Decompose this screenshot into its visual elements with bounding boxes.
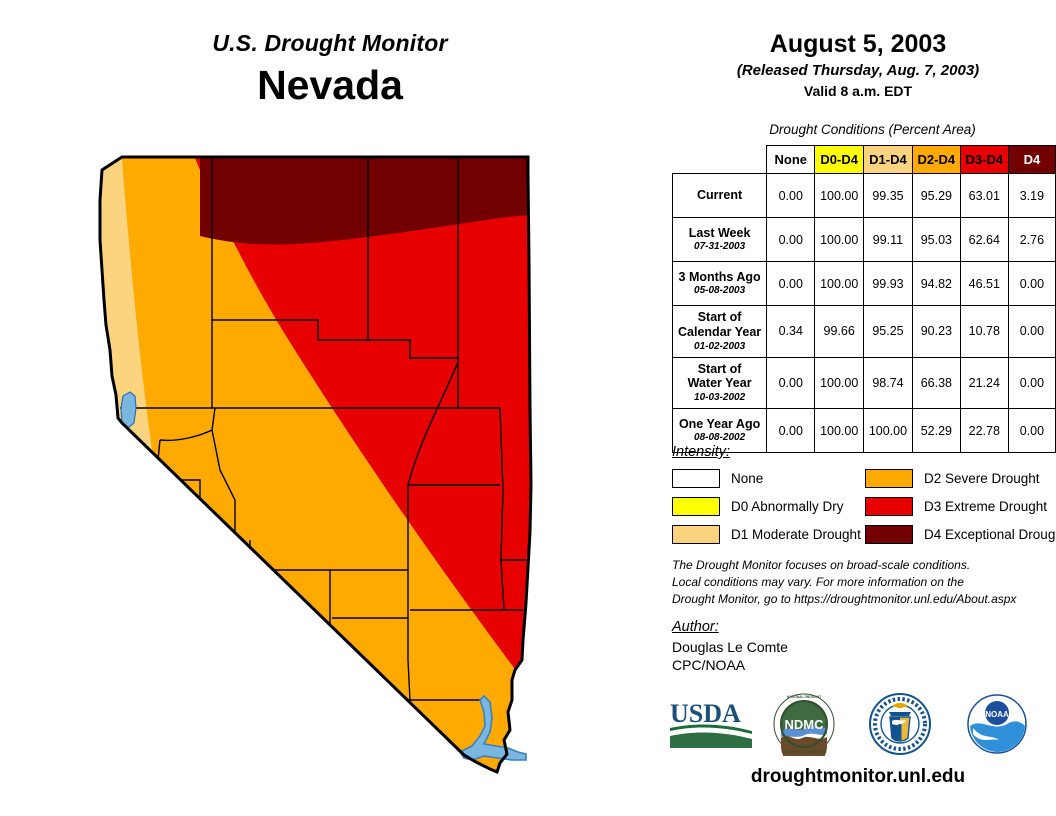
legend-label: D3 Extreme Drought <box>924 499 1047 514</box>
page-title-state: Nevada <box>0 62 660 109</box>
table-row: Current0.00100.0099.3595.2963.013.19 <box>673 174 1056 218</box>
table-cell: 0.00 <box>1008 306 1055 358</box>
drought-monitor-page: U.S. Drought Monitor Nevada <box>0 0 1056 816</box>
table-body: Current0.00100.0099.3595.2963.013.19Last… <box>673 174 1056 453</box>
nevada-drought-map <box>60 140 640 800</box>
table-cell: 0.00 <box>1008 262 1055 306</box>
table-cell: 21.24 <box>960 357 1008 409</box>
svg-text:NATIONAL DROUGHT: NATIONAL DROUGHT <box>787 695 821 699</box>
table-cell: 0.00 <box>767 174 815 218</box>
site-url[interactable]: droughtmonitor.unl.edu <box>660 766 1056 788</box>
svg-text:NOAA: NOAA <box>985 710 1009 719</box>
author-name: Douglas Le Comte <box>672 639 788 655</box>
legend-item: D3 Extreme Drought <box>865 494 1056 518</box>
table-row: Start ofWater Year10-03-20020.00100.0098… <box>673 357 1056 409</box>
table-cell: 46.51 <box>960 262 1008 306</box>
table-col-header-d1-d4: D1-D4 <box>864 146 913 174</box>
table-cell: 99.93 <box>864 262 913 306</box>
usda-logo: USDA <box>668 698 754 755</box>
table-cell: 0.00 <box>767 409 815 453</box>
table-header: NoneD0-D4D1-D4D2-D4D3-D4D4 <box>673 146 1056 174</box>
table-col-header-d0-d4: D0-D4 <box>815 146 864 174</box>
table-cell: 100.00 <box>815 218 864 262</box>
table-row-label: Current <box>673 174 767 218</box>
legend-title: Intensity: <box>672 444 730 460</box>
legend-item: D2 Severe Drought <box>865 466 1056 490</box>
table-cell: 0.00 <box>767 262 815 306</box>
table-cell: 98.74 <box>864 357 913 409</box>
table-cell: 94.82 <box>912 262 960 306</box>
table-row-label: Start ofWater Year10-03-2002 <box>673 357 767 409</box>
table-cell: 99.11 <box>864 218 913 262</box>
legend-column-left: NoneD0 Abnormally DryD1 Moderate Drought <box>672 466 861 550</box>
legend-swatch <box>672 469 720 488</box>
table-row-label: Last Week07-31-2003 <box>673 218 767 262</box>
row-label-title: Last Week <box>675 226 764 241</box>
ndmc-logo: NDMC NATIONAL DROUGHT UNIVERSITY OF NEBR… <box>772 692 836 761</box>
row-label-date: 07-31-2003 <box>675 241 764 253</box>
row-label-title: One Year Ago <box>675 417 764 432</box>
table-col-header-d4: D4 <box>1008 146 1055 174</box>
row-label-date: 01-02-2003 <box>675 341 764 353</box>
table-cell: 0.00 <box>1008 357 1055 409</box>
svg-text:UNIVERSITY OF NEBRASKA: UNIVERSITY OF NEBRASKA <box>782 750 827 754</box>
table-cell: 95.25 <box>864 306 913 358</box>
table-col-header-none: None <box>767 146 815 174</box>
table-cell: 2.76 <box>1008 218 1055 262</box>
svg-text:USDA: USDA <box>670 699 741 728</box>
legend-swatch <box>865 525 913 544</box>
table-cell: 0.00 <box>767 218 815 262</box>
legend-column-right: D2 Severe DroughtD3 Extreme DroughtD4 Ex… <box>865 466 1056 550</box>
table-cell: 100.00 <box>815 409 864 453</box>
report-valid: Valid 8 a.m. EDT <box>660 83 1056 99</box>
row-label-title: Current <box>675 188 764 203</box>
table-row: Last Week07-31-20030.00100.0099.1195.036… <box>673 218 1056 262</box>
row-label-date: 05-08-2003 <box>675 285 764 297</box>
legend-swatch <box>672 525 720 544</box>
legend-item: D0 Abnormally Dry <box>672 494 861 518</box>
table-cell: 10.78 <box>960 306 1008 358</box>
legend-item: None <box>672 466 861 490</box>
legend-label: D4 Exceptional Drought <box>924 527 1056 542</box>
table-col-header-d2-d4: D2-D4 <box>912 146 960 174</box>
author-organization: CPC/NOAA <box>672 657 745 673</box>
table-cell: 100.00 <box>864 409 913 453</box>
author-heading: Author: <box>672 619 719 635</box>
table-cell: 3.19 <box>1008 174 1055 218</box>
legend-swatch <box>672 497 720 516</box>
table-cell: 100.00 <box>815 174 864 218</box>
svg-text:NDMC: NDMC <box>785 717 825 732</box>
map-drought-bands <box>60 140 640 800</box>
row-label-title: Start ofCalendar Year <box>675 310 764 340</box>
table-row: Start ofCalendar Year01-02-20030.3499.66… <box>673 306 1056 358</box>
table-cell: 100.00 <box>815 262 864 306</box>
table-row-label: 3 Months Ago05-08-2003 <box>673 262 767 306</box>
row-label-title: Start ofWater Year <box>675 362 764 392</box>
table-cell: 99.35 <box>864 174 913 218</box>
legend-swatch <box>865 469 913 488</box>
table-col-header-d3-d4: D3-D4 <box>960 146 1008 174</box>
usdc-seal <box>868 692 932 761</box>
table-cell: 90.23 <box>912 306 960 358</box>
table-cell: 99.66 <box>815 306 864 358</box>
page-title-program: U.S. Drought Monitor <box>0 30 660 57</box>
table-cell: 63.01 <box>960 174 1008 218</box>
table-cell: 100.00 <box>815 357 864 409</box>
table-cell: 95.03 <box>912 218 960 262</box>
drought-conditions-table: NoneD0-D4D1-D4D2-D4D3-D4D4 Current0.0010… <box>672 145 1056 453</box>
table-header-row: NoneD0-D4D1-D4D2-D4D3-D4D4 <box>673 146 1056 174</box>
table-cell: 22.78 <box>960 409 1008 453</box>
legend-label: D0 Abnormally Dry <box>731 499 844 514</box>
disclaimer-text: The Drought Monitor focuses on broad-sca… <box>672 557 1052 608</box>
legend-swatch <box>865 497 913 516</box>
row-label-date: 10-03-2002 <box>675 392 764 404</box>
table-cell: 0.00 <box>1008 409 1055 453</box>
row-label-title: 3 Months Ago <box>675 270 764 285</box>
row-label-date: 08-08-2002 <box>675 432 764 444</box>
band-d4-east <box>556 595 598 692</box>
legend-item: D4 Exceptional Drought <box>865 522 1056 546</box>
table-row-label: Start ofCalendar Year01-02-2003 <box>673 306 767 358</box>
legend-label: D1 Moderate Drought <box>731 527 861 542</box>
legend-label: D2 Severe Drought <box>924 471 1040 486</box>
logo-bar: USDA NDMC NATIONAL DROUGHT UNIVERSITY OF… <box>660 692 1056 756</box>
table-cell: 52.29 <box>912 409 960 453</box>
header-corner-blank <box>673 146 767 174</box>
map-svg <box>60 140 640 800</box>
report-date: August 5, 2003 <box>660 30 1056 59</box>
table-row: 3 Months Ago05-08-20030.00100.0099.9394.… <box>673 262 1056 306</box>
legend-label: None <box>731 471 763 486</box>
report-released: (Released Thursday, Aug. 7, 2003) <box>660 62 1056 79</box>
table-cell: 0.00 <box>767 357 815 409</box>
table-cell: 95.29 <box>912 174 960 218</box>
table-cell: 66.38 <box>912 357 960 409</box>
noaa-logo: NOAA <box>965 692 1029 761</box>
table-cell: 62.64 <box>960 218 1008 262</box>
table-caption: Drought Conditions (Percent Area) <box>700 122 1045 137</box>
table-cell: 0.34 <box>767 306 815 358</box>
legend-item: D1 Moderate Drought <box>672 522 861 546</box>
